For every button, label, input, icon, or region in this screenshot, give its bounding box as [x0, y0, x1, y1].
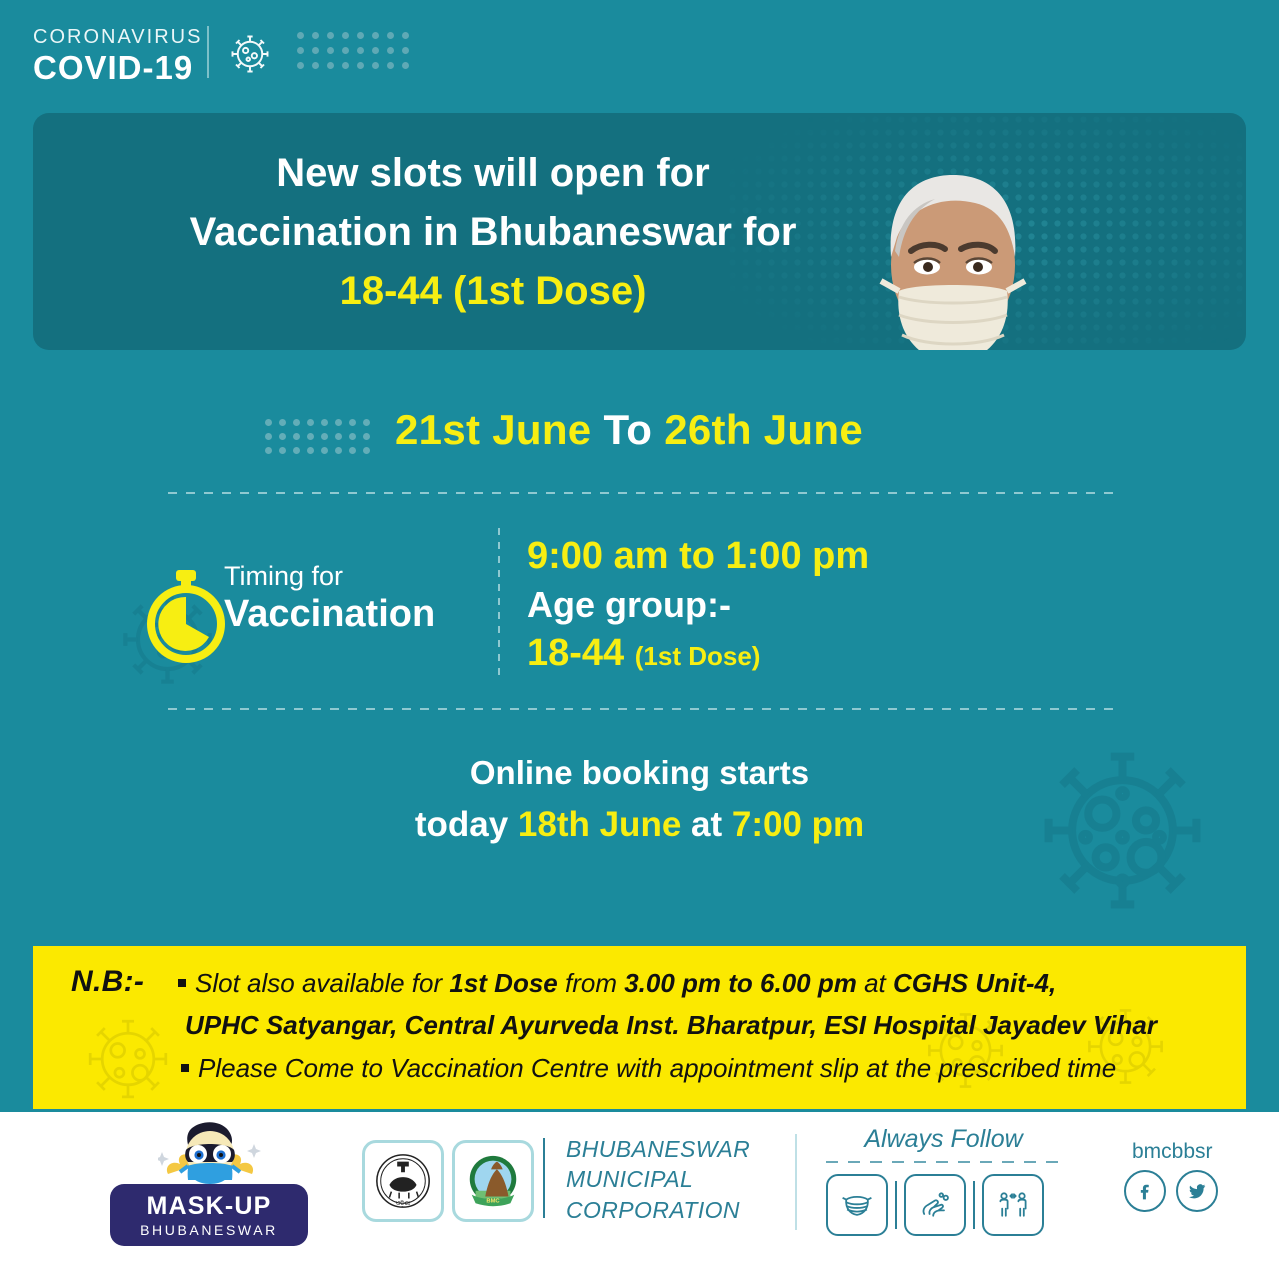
social-distancing-icon — [982, 1174, 1044, 1236]
maskup-title: MASK-UP — [110, 1192, 308, 1221]
timing-values: 9:00 am to 1:00 pm Age group:- 18-44 (1s… — [527, 534, 869, 676]
timing-label: Timing for Vaccination — [224, 562, 435, 635]
facebook-icon[interactable] — [1124, 1170, 1166, 1212]
divider-top — [168, 492, 1113, 494]
note-item-1-e: at — [857, 968, 893, 998]
booking-middle: at — [681, 805, 732, 844]
stopwatch-icon — [140, 568, 232, 664]
face-mask-icon — [826, 1174, 888, 1236]
dot-grid-decoration-2 — [265, 419, 373, 459]
booking-block: Online booking starts today 18th June at… — [0, 752, 1279, 848]
date-to: 26th June — [664, 406, 863, 453]
timing-block: Timing for Vaccination 9:00 am to 1:00 p… — [0, 520, 1279, 690]
org-divider — [543, 1138, 545, 1218]
always-follow-block: Always Follow — [826, 1125, 1076, 1236]
age-range: 18-44 — [527, 632, 624, 674]
dot-grid-decoration — [297, 32, 409, 76]
bullet-icon — [178, 979, 186, 987]
date-connector: To — [603, 406, 652, 453]
brand-divider — [207, 26, 209, 78]
note-item-1-venue: CGHS Unit-4, — [893, 968, 1056, 998]
social-block: bmcbbsr — [1118, 1140, 1248, 1212]
org-name: BHUBANESWAR MUNICIPAL CORPORATION — [566, 1134, 750, 1225]
note-item-3: Please Come to Vaccination Centre with a… — [181, 1053, 1116, 1084]
headline-line-2-rest: in Bhubaneswar for — [412, 210, 797, 254]
bmc-emblem: BMC — [452, 1140, 534, 1222]
maskup-subtitle: BHUBANESWAR — [110, 1222, 308, 1238]
maskup-logo: MASK-UP BHUBANESWAR — [110, 1154, 308, 1246]
headline-line-3: 18-44 (1st Dose) — [143, 267, 843, 316]
footer-bar: MASK-UP BHUBANESWAR ଓଡ଼ିଶା — [0, 1112, 1279, 1280]
note-item-1: Slot also available for 1st Dose from 3.… — [178, 968, 1056, 999]
always-follow-title: Always Follow — [826, 1125, 1061, 1154]
date-range-row: 21st June To 26th June — [0, 403, 1279, 475]
icon-divider-1 — [895, 1181, 897, 1229]
booking-line-2: today 18th June at 7:00 pm — [0, 803, 1279, 848]
age-group-label: Age group:- — [527, 584, 869, 626]
timing-hours: 9:00 am to 1:00 pm — [527, 534, 869, 579]
odisha-emblem-icon: ଓଡ଼ିଶା — [372, 1150, 434, 1212]
poster-root: CORONAVIRUS COVID-19 — [0, 0, 1279, 1280]
org-line-1: BHUBANESWAR — [566, 1134, 750, 1164]
emblem-group: ଓଡ଼ିଶା BMC — [362, 1140, 534, 1222]
note-item-1-a: Slot also available for — [195, 968, 449, 998]
headline-line-1: New slots will open for — [143, 149, 843, 198]
safety-icons — [826, 1174, 1076, 1236]
org-line-2: MUNICIPAL — [566, 1164, 750, 1194]
booking-prefix: today — [415, 805, 518, 844]
always-follow-divider — [795, 1134, 797, 1230]
always-follow-dashed-line — [826, 1161, 1059, 1163]
headline-text: New slots will open for Vaccination in B… — [143, 149, 843, 315]
social-icons[interactable] — [1118, 1170, 1248, 1212]
dose-label: (1st Dose) — [635, 641, 761, 671]
note-item-1-time: 3.00 pm to 6.00 pm — [624, 968, 857, 998]
social-handle: bmcbbsr — [1118, 1140, 1248, 1164]
coronavirus-label: CORONAVIRUS — [33, 27, 202, 47]
divider-bottom — [168, 708, 1113, 710]
covid-brand: CORONAVIRUS COVID-19 — [33, 27, 202, 84]
official-portrait-photo — [803, 145, 1103, 350]
headline-card: New slots will open for Vaccination in B… — [33, 113, 1246, 350]
bmc-emblem-icon: BMC — [462, 1150, 524, 1212]
headline-line-2: Vaccination in Bhubaneswar for — [143, 208, 843, 257]
hand-wash-icon — [904, 1174, 966, 1236]
date-range-text: 21st June To 26th June — [395, 406, 863, 454]
org-line-3: CORPORATION — [566, 1195, 750, 1225]
svg-text:BMC: BMC — [486, 1198, 500, 1204]
note-item-1-dose: 1st Dose — [449, 968, 557, 998]
note-box: N.B:- Slot also available for 1st Dose f… — [33, 946, 1246, 1109]
age-group-value: 18-44 (1st Dose) — [527, 631, 869, 676]
headline-highlight: Vaccination — [190, 210, 412, 254]
odisha-government-emblem: ଓଡ଼ିଶା — [362, 1140, 444, 1222]
note-label: N.B:- — [71, 965, 144, 999]
svg-text:ଓଡ଼ିଶା: ଓଡ଼ିଶା — [396, 1200, 411, 1207]
icon-divider-2 — [973, 1181, 975, 1229]
note-item-3-text: Please Come to Vaccination Centre with a… — [198, 1053, 1116, 1083]
note-item-2: UPHC Satyangar, Central Ayurveda Inst. B… — [185, 1010, 1157, 1041]
bullet-icon-2 — [181, 1064, 189, 1072]
timing-label-line-1: Timing for — [224, 562, 435, 591]
coronavirus-icon — [222, 26, 278, 82]
top-brand-bar: CORONAVIRUS COVID-19 — [0, 0, 1279, 110]
twitter-icon[interactable] — [1176, 1170, 1218, 1212]
booking-date: 18th June — [518, 805, 681, 844]
note-item-1-c: from — [558, 968, 624, 998]
booking-time: 7:00 pm — [732, 805, 864, 844]
covid-19-label: COVID-19 — [33, 51, 202, 84]
timing-vertical-divider — [498, 528, 500, 680]
booking-line-1: Online booking starts — [0, 752, 1279, 794]
timing-label-line-2: Vaccination — [224, 594, 435, 635]
date-from: 21st June — [395, 406, 591, 453]
